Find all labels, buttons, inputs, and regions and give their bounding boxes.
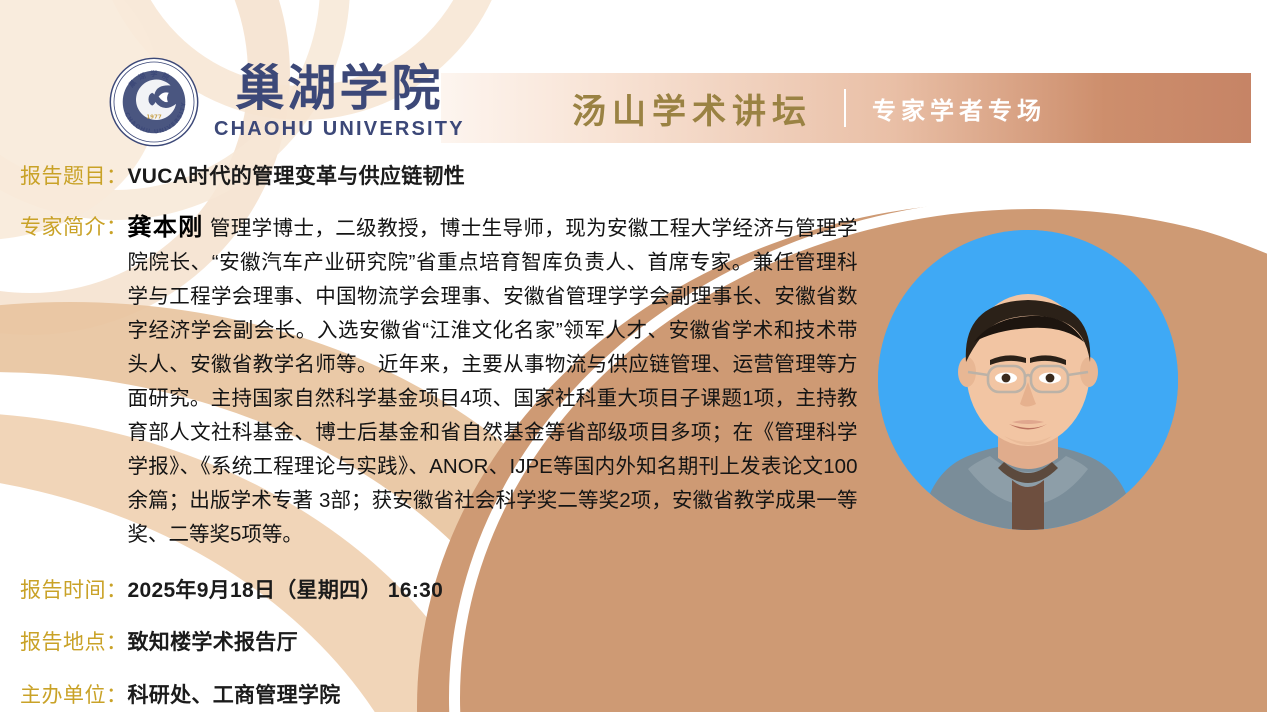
- university-name-block: 巢湖学院 CHAOHU UNIVERSITY: [214, 63, 465, 141]
- report-time-row: 报告时间： 2025年9月18日（星期四） 16:30: [20, 574, 443, 604]
- speaker-bio-row: 专家简介： 龚本刚 管理学博士，二级教授，博士生导师，现为安徽工程大学经济与管理…: [20, 211, 880, 552]
- organizer-value: 科研处、工商管理学院: [128, 679, 341, 709]
- svg-text:1977: 1977: [146, 115, 162, 121]
- university-logo: 1977 巢 湖 学 院 CHAOHU UNIVERSITY 巢湖学院 CHAO…: [108, 56, 465, 148]
- speaker-bio-paragraph: 管理学博士，二级教授，博士生导师，现为安徽工程大学经济与管理学院院长、“安徽汽车…: [128, 217, 858, 546]
- report-title-value: VUCA时代的管理变革与供应链韧性: [128, 160, 466, 190]
- university-name-cn: 巢湖学院: [235, 63, 443, 114]
- speaker-bio-label: 专家简介：: [20, 211, 128, 241]
- report-place-label: 报告地点：: [20, 626, 128, 656]
- banner-subtitle: 专家学者专场: [872, 91, 1046, 126]
- banner-divider: [844, 89, 846, 127]
- report-time-label: 报告时间：: [20, 574, 128, 604]
- report-place-value: 致知楼学术报告厅: [128, 626, 298, 656]
- report-time-value: 2025年9月18日（星期四） 16:30: [128, 574, 444, 604]
- lecture-series-banner: 汤山学术讲坛 专家学者专场: [441, 73, 1251, 143]
- speaker-name: 龚本刚: [128, 214, 204, 241]
- organizer-row: 主办单位： 科研处、工商管理学院: [20, 679, 341, 709]
- university-seal-icon: 1977 巢 湖 学 院 CHAOHU UNIVERSITY: [108, 56, 200, 148]
- poster-canvas: 1977 巢 湖 学 院 CHAOHU UNIVERSITY 巢湖学院 CHAO…: [0, 0, 1267, 712]
- speaker-portrait: [878, 230, 1178, 530]
- report-title-row: 报告题目： VUCA时代的管理变革与供应链韧性: [20, 160, 465, 190]
- organizer-label: 主办单位：: [20, 679, 128, 709]
- report-title-label: 报告题目：: [20, 160, 128, 190]
- banner-main-title: 汤山学术讲坛: [572, 84, 812, 133]
- university-name-en: CHAOHU UNIVERSITY: [214, 118, 465, 141]
- report-place-row: 报告地点： 致知楼学术报告厅: [20, 626, 298, 656]
- speaker-bio-text: 龚本刚 管理学博士，二级教授，博士生导师，现为安徽工程大学经济与管理学院院长、“…: [128, 211, 858, 552]
